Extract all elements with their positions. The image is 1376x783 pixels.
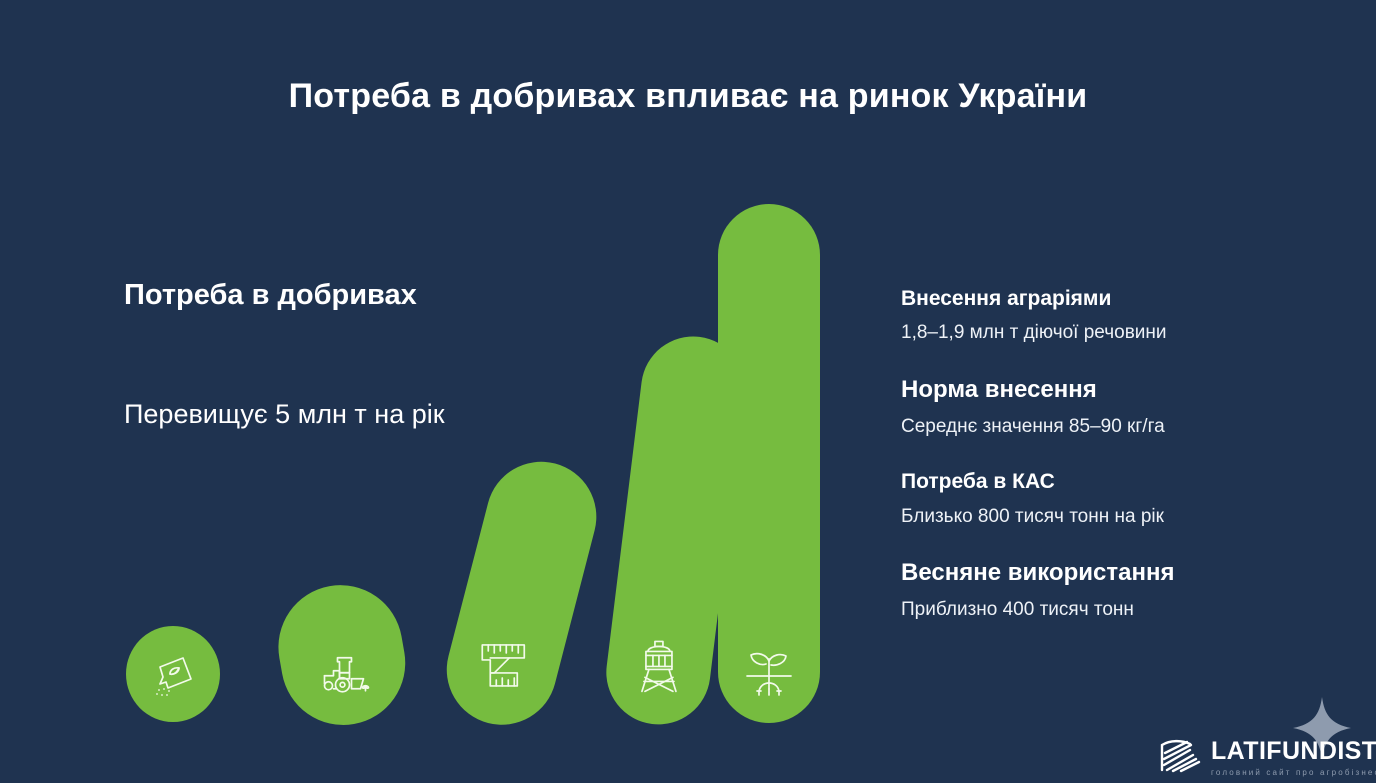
measuring-tape-icon — [472, 633, 534, 695]
stat-value: Приблизно 400 тисяч тонн — [901, 598, 1331, 622]
chart-bar-2 — [269, 575, 415, 734]
stat-title: Норма внесення — [901, 376, 1331, 405]
bar-chart — [0, 0, 880, 783]
storage-tank-icon — [628, 636, 690, 698]
stat-item: Потреба в КАС Близько 800 тисяч тонн на … — [901, 469, 1331, 528]
stat-value: Середнє значення 85–90 кг/га — [901, 415, 1331, 439]
stat-item: Внесення аграріями 1,8–1,9 млн т діючої … — [901, 286, 1331, 345]
tractor-spreader-icon — [314, 645, 376, 707]
infographic-slide: Потреба в добривах впливає на ринок Укра… — [0, 0, 1376, 783]
fertilizer-bag-icon — [142, 644, 204, 706]
stat-item: Весняне використання Приблизно 400 тисяч… — [901, 559, 1331, 622]
latifundist-logo[interactable]: LATIFUNDIST.COM головний сайт про агробі… — [1160, 739, 1376, 777]
chart-bar-3 — [435, 450, 609, 737]
stat-title: Потреба в КАС — [901, 469, 1331, 494]
logo-tagline: головний сайт про агробізнес — [1211, 769, 1376, 777]
stat-value: Близько 800 тисяч тонн на рік — [901, 505, 1331, 529]
chart-bar-5 — [718, 204, 820, 723]
stat-value: 1,8–1,9 млн т діючої речовини — [901, 321, 1331, 345]
sprout-roots-icon — [738, 643, 800, 705]
stats-list: Внесення аграріями 1,8–1,9 млн т діючої … — [901, 286, 1331, 622]
stat-title: Весняне використання — [901, 559, 1331, 588]
chart-bar-1 — [126, 626, 220, 722]
latifundist-flag-icon — [1160, 739, 1202, 773]
stat-title: Внесення аграріями — [901, 286, 1331, 311]
logo-wordmark: LATIFUNDIST.COM — [1211, 739, 1376, 764]
stat-item: Норма внесення Середнє значення 85–90 кг… — [901, 376, 1331, 439]
logo-text: LATIFUNDIST.COM головний сайт про агробі… — [1211, 739, 1376, 777]
